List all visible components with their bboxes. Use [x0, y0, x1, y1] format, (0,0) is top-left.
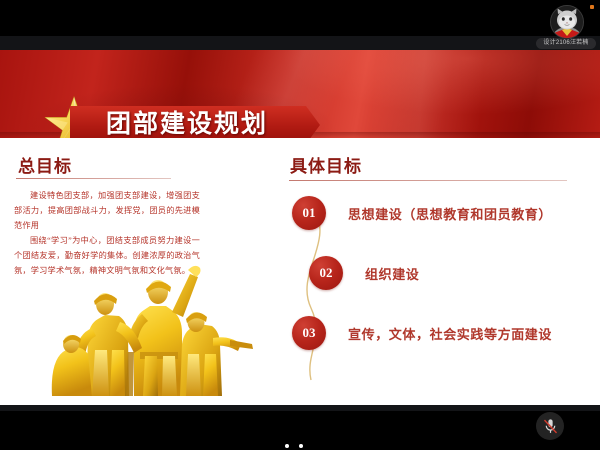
cat-avatar-icon [551, 6, 583, 38]
goal-number-badge: 03 [292, 316, 326, 350]
participant-name-label: 设计2106汪若楠 [536, 38, 596, 49]
right-heading-divider [289, 180, 567, 181]
call-topbar: 设计2106汪若楠 [0, 0, 600, 50]
goal-number-badge: 02 [309, 256, 343, 290]
right-section-heading: 具体目标 [290, 152, 362, 177]
microphone-mute-button[interactable] [536, 412, 564, 440]
goal-label: 宣传，文体，社会实践等方面建设 [348, 324, 552, 343]
left-heading-divider [16, 178, 171, 179]
page-dot[interactable] [285, 444, 289, 448]
goal-label: 思想建设（思想教育和团员教育） [348, 204, 552, 223]
goal-label: 组织建设 [365, 264, 419, 283]
avatar[interactable] [550, 5, 584, 39]
microphone-muted-icon [542, 418, 559, 435]
left-section-heading: 总目标 [18, 152, 72, 177]
page-dot[interactable] [299, 444, 303, 448]
video-call-screen: 设计2106汪若楠 [0, 0, 600, 450]
page-indicator-dots[interactable] [285, 435, 315, 441]
goal-number-badge: 01 [292, 196, 326, 230]
slide-content: 总目标 建设特色团支部，加强团支部建设，增强团支部活力，提高团部战斗力，发挥党，… [0, 138, 600, 405]
recording-indicator-dot [590, 5, 594, 9]
page-title: 团部建设规划 [106, 109, 326, 141]
bottombar-divider-strip [0, 405, 600, 411]
topbar-divider-strip [0, 36, 600, 50]
shared-slide: 团部建设规划 总目标 建设特色团支部，加强团支部建设，增强团支部活力，提高团部战… [0, 50, 600, 405]
golden-revolutionary-statue [30, 246, 270, 398]
overall-goal-paragraph-1: 建设特色团支部，加强团支部建设，增强团支部活力，提高团部战斗力，发挥党，团员的先… [14, 188, 200, 233]
